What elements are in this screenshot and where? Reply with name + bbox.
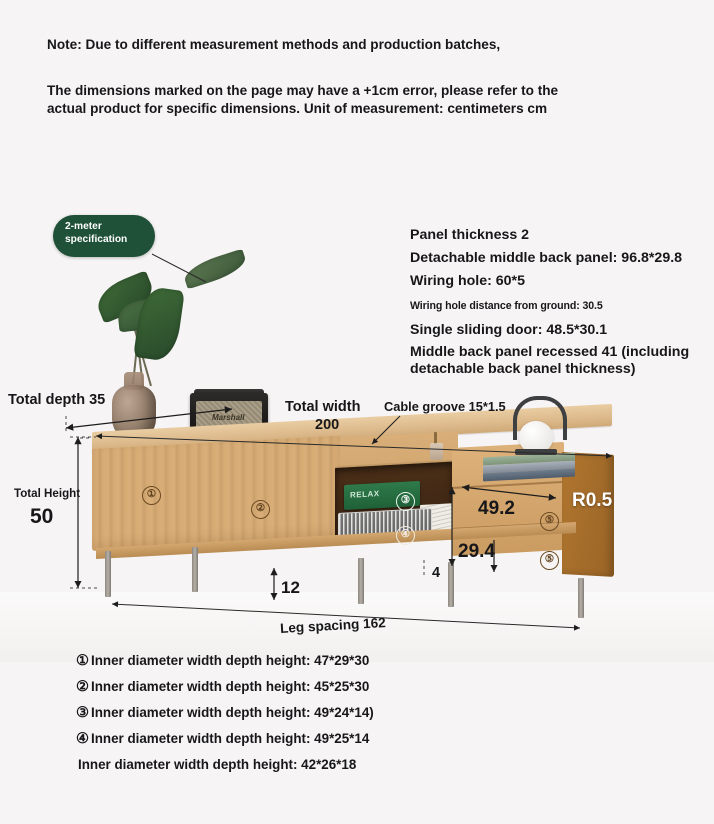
label-total-height: Total Height	[14, 487, 80, 500]
marker-4: ④	[396, 526, 415, 545]
value-drawer-upper: 49.2	[478, 498, 515, 520]
inner-dimension-row: ④Inner diameter width depth height: 49*2…	[76, 731, 369, 747]
marker-5-lower: ⑤	[540, 551, 559, 570]
label-total-width: Total width	[285, 399, 360, 415]
value-corner-radius: R0.5	[572, 490, 612, 512]
inner-dimension-marker: ②	[76, 679, 89, 695]
inner-dimension-text: Inner diameter width depth height: 45*25…	[91, 679, 369, 694]
value-leg-height: 12	[281, 578, 300, 598]
cabinet-leg	[105, 551, 111, 597]
marker-1: ①	[142, 486, 161, 505]
cabinet-leg	[192, 547, 198, 592]
label-total-depth: Total depth 35	[8, 392, 105, 408]
marker-2: ②	[251, 500, 270, 519]
inner-dimension-row: ②Inner diameter width depth height: 45*2…	[76, 679, 369, 695]
specification-badge[interactable]: 2-meter specification	[53, 215, 155, 257]
value-apron-thickness: 4	[432, 565, 440, 581]
cabinet-leg	[358, 558, 364, 604]
plant-leaf	[181, 249, 249, 290]
marker-5-upper: ⑤	[540, 512, 559, 531]
lamp-base	[515, 449, 557, 455]
inner-dimension-row: ①Inner diameter width depth height: 47*2…	[76, 653, 369, 669]
inner-dimension-row: Inner diameter width depth height: 42*26…	[76, 757, 356, 773]
value-total-width: 200	[315, 417, 339, 433]
marker-3: ③	[396, 492, 415, 511]
cabinet-leg	[448, 562, 454, 607]
specification-badge-label: 2-meter specification	[65, 221, 127, 245]
label-cable-groove: Cable groove 15*1.5	[384, 399, 506, 414]
relax-box-label: RELAX	[350, 489, 380, 500]
inner-dimension-text: Inner diameter width depth height: 49*25…	[91, 731, 369, 746]
inner-dimension-text: Inner diameter width depth height: 42*26…	[78, 757, 356, 772]
inner-dimension-marker: ①	[76, 653, 89, 669]
speaker-logo: Marshall	[212, 413, 244, 422]
inner-dimension-text: Inner diameter width depth height: 47*29…	[91, 653, 369, 668]
cabinet-leg	[578, 578, 584, 618]
inner-dimension-text: Inner diameter width depth height: 49*24…	[91, 705, 374, 720]
inner-dimension-marker: ④	[76, 731, 89, 747]
small-glass-vessel	[430, 443, 443, 460]
inner-dimension-row: ③Inner diameter width depth height: 49*2…	[76, 705, 374, 721]
cabinet-left-slatted-door	[92, 436, 340, 551]
value-drawer-lower: 29.4	[458, 541, 495, 563]
value-total-height: 50	[30, 505, 53, 529]
stacked-books	[483, 453, 575, 482]
spec-diagram-page: Note: Due to different measurement metho…	[0, 0, 714, 824]
inner-dimension-marker: ③	[76, 705, 89, 721]
